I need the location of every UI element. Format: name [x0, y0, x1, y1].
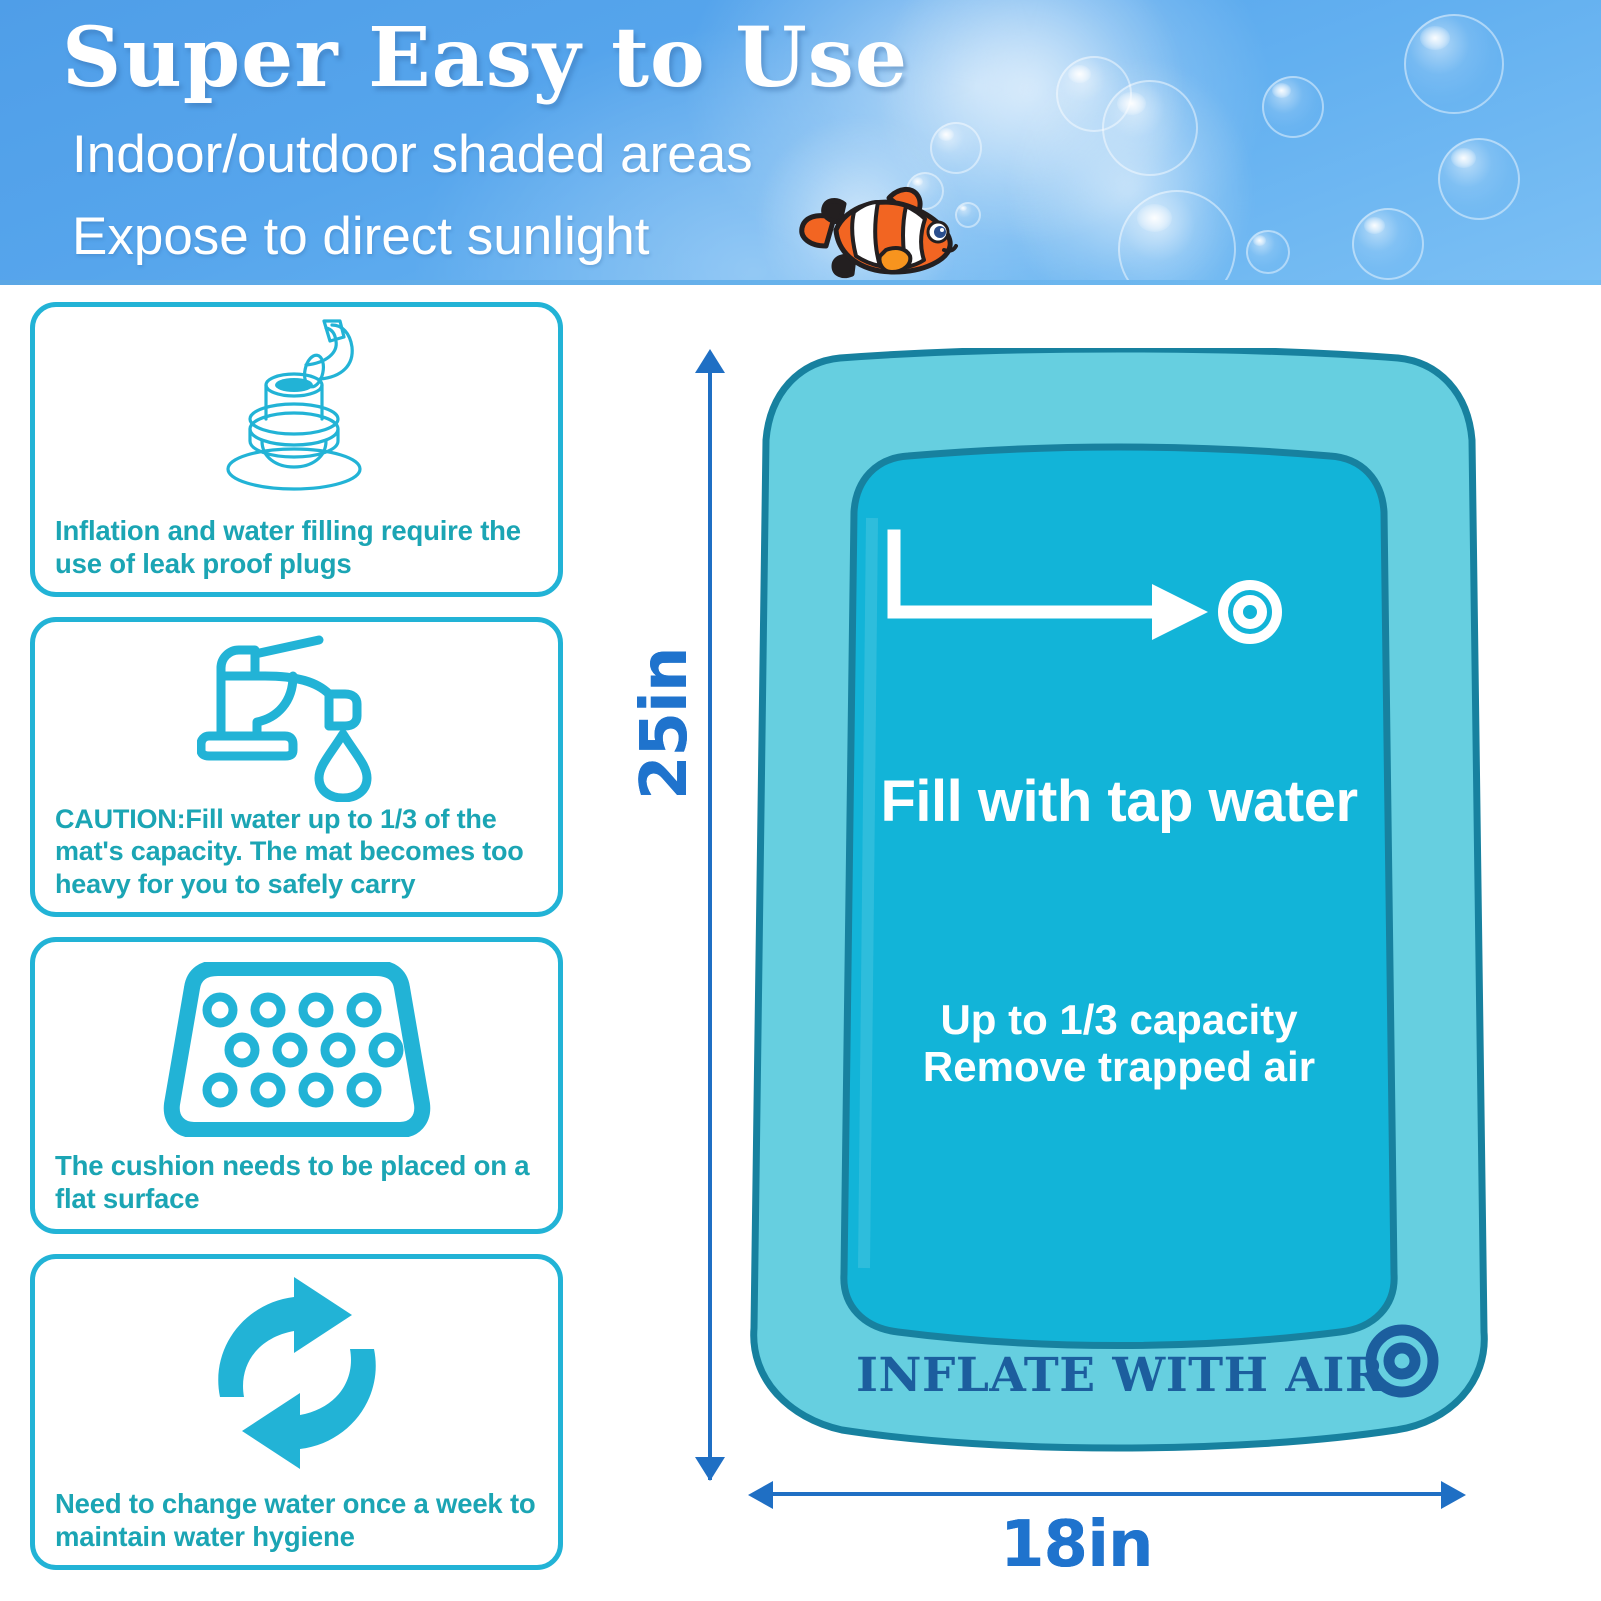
vertical-dimension-arrow-icon [695, 1457, 725, 1481]
banner-subtitle-1: Indoor/outdoor shaded areas [72, 124, 753, 185]
horizontal-dimension-arrow-icon [748, 1481, 773, 1509]
valve-plug-icon [35, 317, 558, 497]
mat-subtext: Up to 1/3 capacity Remove trapped air [748, 996, 1490, 1090]
bubble-icon [1102, 80, 1198, 176]
water-mat-illustration: Fill with tap water Up to 1/3 capacity R… [748, 348, 1490, 1458]
info-card-fill-caution: CAUTION:Fill water up to 1/3 of the mat'… [30, 617, 563, 917]
vertical-dimension-arrow-icon [695, 349, 725, 373]
bubble-icon [1246, 230, 1290, 274]
mat-subtext-line-2: Remove trapped air [748, 1043, 1490, 1090]
card-label: Need to change water once a week to main… [55, 1487, 546, 1553]
horizontal-dimension-arrow-icon [1441, 1481, 1466, 1509]
bubble-icon [1352, 208, 1424, 280]
info-card-leak-proof-plugs: Inflation and water filling require the … [30, 302, 563, 597]
banner-bottom-edge [0, 280, 1601, 285]
mat-title: Fill with tap water [748, 768, 1490, 835]
bubble-icon [1438, 138, 1520, 220]
cushion-mat-dots-icon [35, 962, 558, 1137]
mat-inner-panel [844, 447, 1394, 1346]
bubble-icon [1262, 76, 1324, 138]
card-label: The cushion needs to be placed on a flat… [55, 1149, 546, 1215]
mat-subtext-line-1: Up to 1/3 capacity [748, 996, 1490, 1043]
vertical-dimension-line [708, 352, 712, 1480]
width-dimension-label-fill: 18in [1000, 1508, 1153, 1582]
faucet-water-drop-icon [35, 632, 558, 802]
inflate-with-air-label: INFLATE WITH AIR [856, 1348, 1384, 1403]
info-card-flat-surface: The cushion needs to be placed on a flat… [30, 937, 563, 1234]
height-dimension-label-fill: 25in [628, 647, 702, 800]
clownfish-icon [794, 184, 964, 284]
horizontal-dimension-line [760, 1492, 1450, 1496]
page-title: Super Easy to Use [62, 10, 908, 106]
recycle-arrows-icon [35, 1275, 558, 1470]
bubble-icon [930, 122, 982, 174]
header-banner: Super Easy to Use Indoor/outdoor shaded … [0, 0, 1601, 285]
banner-subtitle-2: Expose to direct sunlight [72, 206, 649, 267]
bubble-icon [1404, 14, 1504, 114]
card-label: CAUTION:Fill water up to 1/3 of the mat'… [55, 803, 546, 900]
info-card-change-water: Need to change water once a week to main… [30, 1254, 563, 1570]
card-label: Inflation and water filling require the … [55, 514, 546, 580]
